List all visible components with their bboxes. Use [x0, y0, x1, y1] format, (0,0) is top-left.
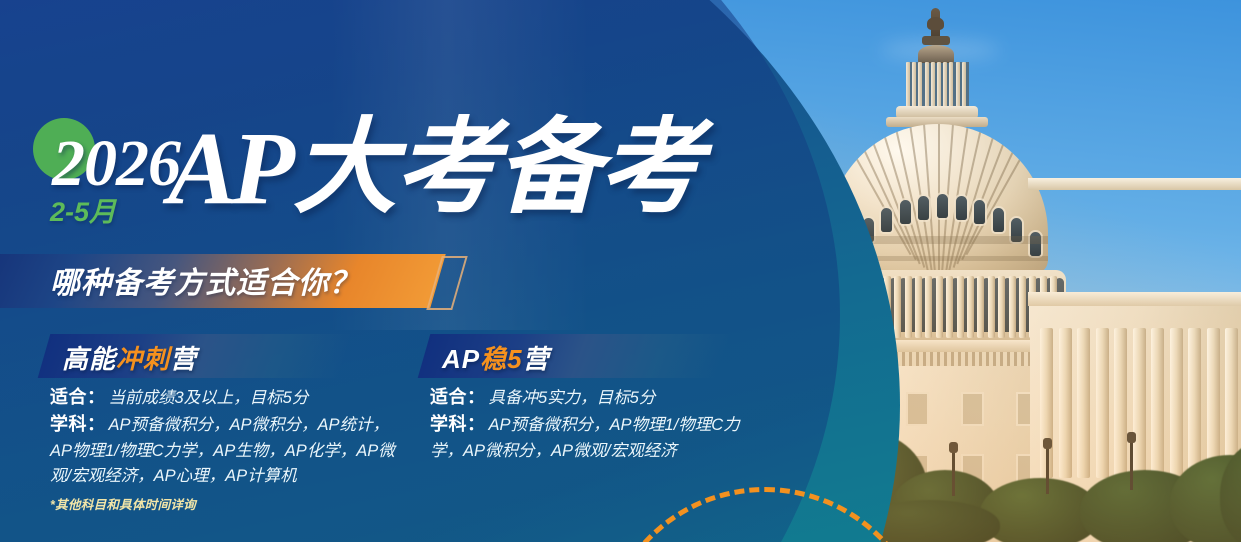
course-title-part2: 营 [523, 344, 550, 374]
course-subject-label: 学科： [430, 414, 486, 434]
tholos-base [922, 36, 950, 45]
wing-roofline [1028, 292, 1241, 306]
course-subject-row: 学科：AP预备微积分，AP物理1/物理C力学，AP微积分，AP微观/宏观经济 [430, 411, 760, 463]
course-fit-row: 适合：当前成绩3及以上，目标5分 [50, 384, 416, 411]
subtitle-text: 哪种备考方式适合你？ [50, 258, 360, 302]
course-card-stable5[interactable]: AP稳5营 适合：具备冲5实力，目标5分 学科：AP预备微积分，AP物理1/物理… [416, 334, 796, 464]
title-cn-text: 大考备考 [293, 110, 701, 226]
months-label: 2-5月 [50, 190, 116, 229]
course-title-part2: 营 [170, 344, 197, 374]
freedom-statue-icon [931, 8, 940, 38]
course-fit-row: 适合：具备冲5实力，目标5分 [430, 384, 796, 411]
course-title-part1: AP [442, 344, 480, 374]
course-card-header: 高能冲刺营 [36, 334, 416, 378]
course-title-highlight: 稳5 [480, 344, 522, 374]
promo-banner: 2026 2-5月 AP大考备考 哪种备考方式适合你？ 高能冲刺营 适合：当前成… [0, 0, 1241, 542]
course-fit-label: 适合： [430, 387, 486, 407]
course-card-title: AP稳5营 [442, 339, 550, 376]
course-subject-label: 学科： [50, 414, 106, 434]
course-card-title: 高能冲刺营 [62, 339, 197, 376]
course-fit-value: 当前成绩3及以上，目标5分 [109, 389, 309, 407]
course-subject-row: 学科：AP预备微积分，AP微积分，AP统计，AP物理1/物理C力学，AP生物，A… [50, 411, 410, 489]
dashed-arc-decoration [600, 487, 930, 542]
footnote-text: *其他科目和具体时间详询 [50, 494, 196, 513]
course-card-sprint[interactable]: 高能冲刺营 适合：当前成绩3及以上，目标5分 学科：AP预备微积分，AP微积分，… [36, 334, 416, 489]
dome-lantern [918, 45, 954, 63]
course-card-body: 适合：具备冲5实力，目标5分 学科：AP预备微积分，AP物理1/物理C力学，AP… [416, 378, 796, 464]
course-fit-label: 适合： [50, 387, 106, 407]
wing-entablature [1028, 178, 1241, 190]
dashed-arc-clip [560, 487, 980, 542]
year-label: 2026 [52, 131, 180, 197]
page-title: AP大考备考 [168, 116, 701, 221]
course-card-header: AP稳5营 [416, 334, 796, 378]
course-card-body: 适合：当前成绩3及以上，目标5分 学科：AP预备微积分，AP微积分，AP统计，A… [36, 378, 416, 489]
course-title-part1: 高能 [62, 344, 116, 374]
upper-colonnade [906, 62, 966, 108]
title-ap-text: AP [168, 111, 289, 226]
course-title-highlight: 冲刺 [116, 344, 170, 374]
course-fit-value: 具备冲5实力，目标5分 [489, 389, 656, 407]
